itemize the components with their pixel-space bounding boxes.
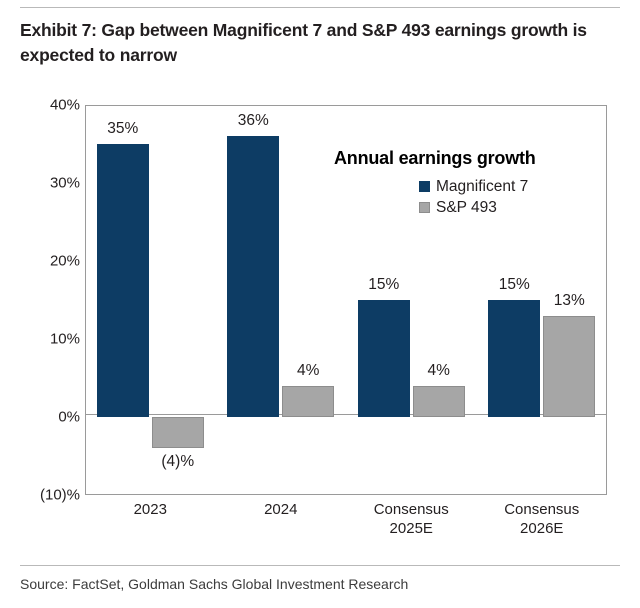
x-axis: 20232024Consensus2025EConsensus2026E [85, 500, 607, 560]
bar-magnificent-7 [358, 300, 410, 417]
y-axis-tick-label: 30% [2, 175, 80, 192]
chart-container: (10)%0%10%20%30%40% 35%(4)%36%4%15%4%15%… [0, 0, 640, 608]
bar-value-label: 36% [238, 112, 269, 130]
bar-value-label: 15% [368, 276, 399, 294]
y-axis-tick-label: 40% [2, 97, 80, 114]
bar-sp-493 [543, 316, 595, 417]
bar-magnificent-7 [488, 300, 540, 417]
bar-value-label: 4% [297, 362, 319, 380]
legend-items: Magnificent 7 S&P 493 [419, 176, 536, 218]
y-axis-tick-label: 20% [2, 253, 80, 270]
x-axis-tick-label: Consensus2026E [504, 500, 579, 538]
bar-sp-493 [282, 386, 334, 417]
legend-label-magnificent-7: Magnificent 7 [436, 178, 528, 196]
bar-value-label: 13% [554, 292, 585, 310]
legend-item-sp-493[interactable]: S&P 493 [419, 197, 536, 218]
bar-value-label: (4)% [161, 453, 194, 471]
legend-item-magnificent-7[interactable]: Magnificent 7 [419, 176, 536, 197]
legend-swatch-sp-493 [419, 202, 430, 213]
bar-value-label: 15% [499, 276, 530, 294]
bar-magnificent-7 [97, 144, 149, 417]
bar-value-label: 4% [428, 362, 450, 380]
y-axis-tick-label: (10)% [2, 487, 80, 504]
legend-swatch-magnificent-7 [419, 181, 430, 192]
y-axis: (10)%0%10%20%30%40% [0, 0, 80, 608]
x-axis-tick-label: Consensus2025E [374, 500, 449, 538]
legend-title: Annual earnings growth [334, 148, 536, 169]
bar-sp-493 [152, 417, 204, 448]
y-axis-tick-label: 10% [2, 331, 80, 348]
y-axis-tick-label: 0% [2, 409, 80, 426]
bar-value-label: 35% [107, 120, 138, 138]
x-axis-tick-label: 2024 [264, 500, 297, 519]
source-note: Source: FactSet, Goldman Sachs Global In… [20, 576, 408, 592]
bar-magnificent-7 [227, 136, 279, 417]
x-axis-tick-label: 2023 [134, 500, 167, 519]
legend-label-sp-493: S&P 493 [436, 199, 497, 217]
bar-sp-493 [413, 386, 465, 417]
chart-legend: Annual earnings growth Magnificent 7 S&P… [334, 148, 536, 218]
footer-divider [20, 565, 620, 566]
